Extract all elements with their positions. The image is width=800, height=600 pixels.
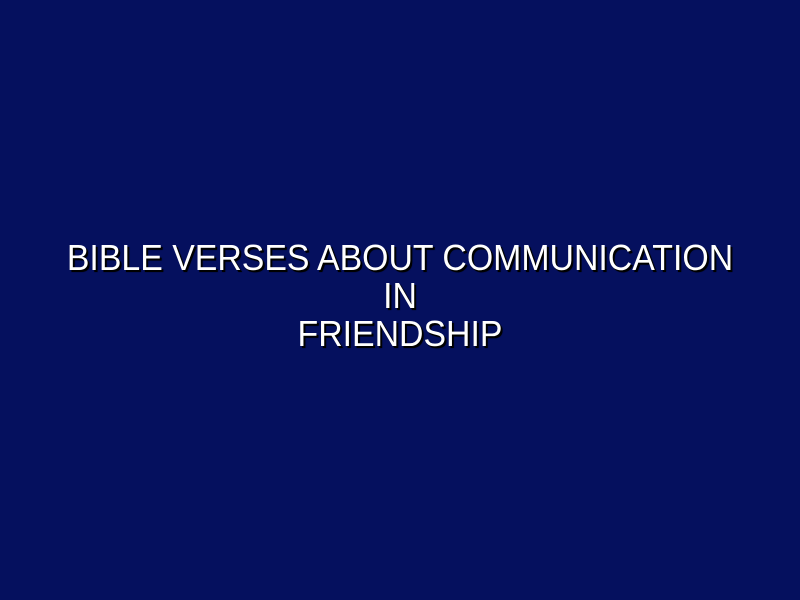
page-title: BIBLE VERSES ABOUT COMMUNICATION IN FRIE… bbox=[47, 239, 754, 353]
title-card: BIBLE VERSES ABOUT COMMUNICATION IN FRIE… bbox=[0, 0, 800, 600]
title-block: BIBLE VERSES ABOUT COMMUNICATION IN FRIE… bbox=[0, 239, 800, 353]
